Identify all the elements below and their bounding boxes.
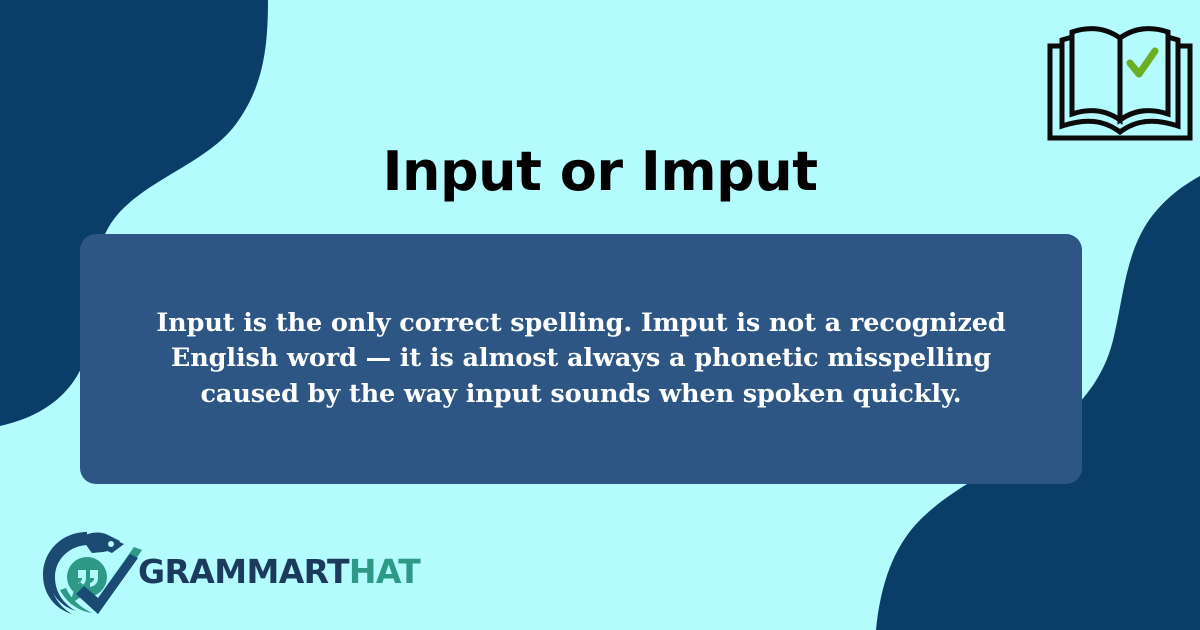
book-left-page [1072, 29, 1120, 120]
logo-wordmark: GRAMMARTHAT [138, 552, 420, 591]
answer-text: Input is the only correct spelling. Impu… [132, 306, 1030, 412]
book-right-page [1120, 29, 1168, 120]
logo-wordmark-accent: HAT [349, 552, 420, 591]
pen-nib-hole [108, 541, 114, 547]
infographic-canvas: Input or Imput Input is the only correct… [0, 0, 1200, 630]
page-title: Input or Imput [0, 142, 1200, 201]
brand-logo[interactable]: GRAMMARTHAT [42, 528, 420, 614]
grammarthat-emblem-icon [42, 528, 142, 614]
logo-wordmark-primary: GRAMMART [138, 552, 349, 591]
open-book-with-checkmark-icon [1046, 22, 1194, 144]
answer-card: Input is the only correct spelling. Impu… [80, 234, 1082, 484]
